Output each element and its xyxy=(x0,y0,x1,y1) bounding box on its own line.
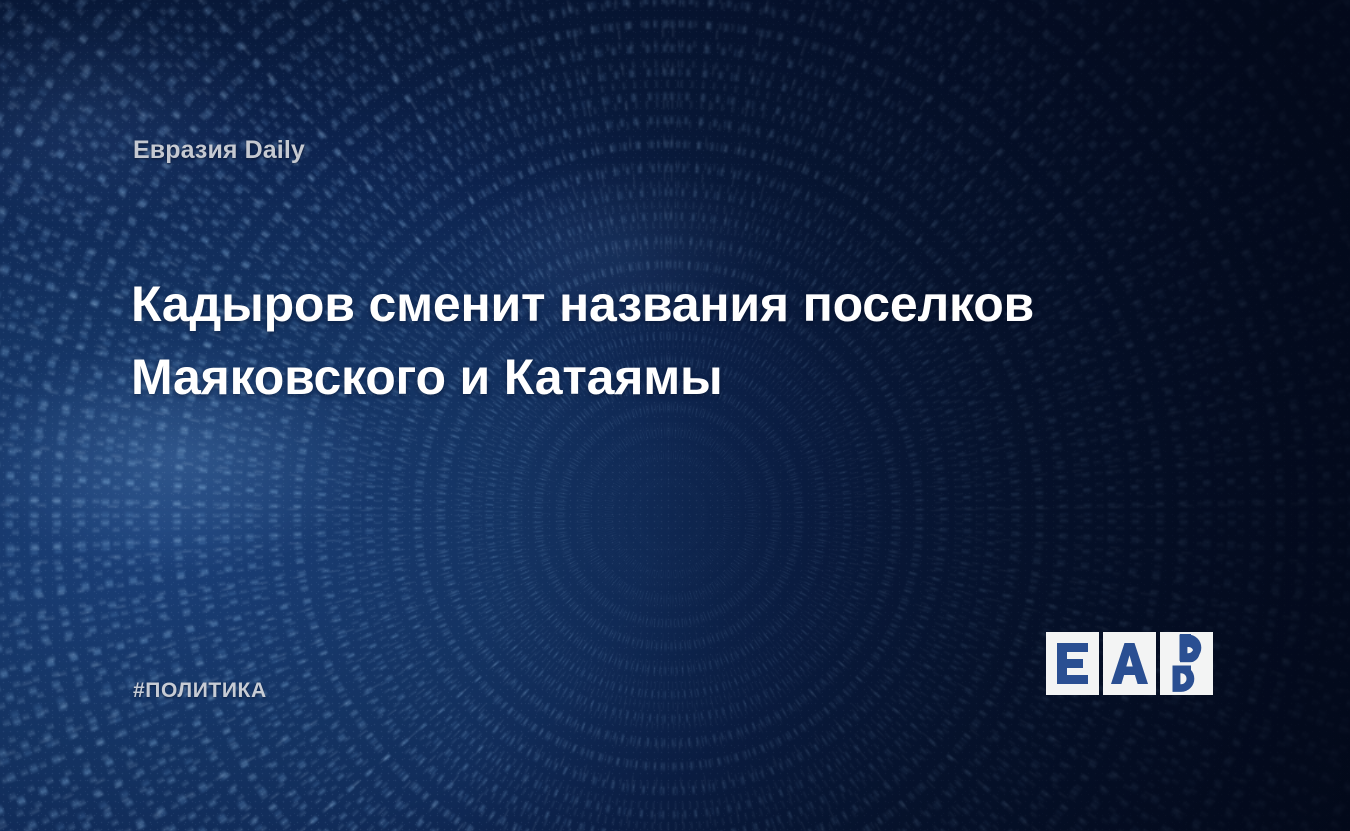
letter-d-split-tile xyxy=(1160,632,1213,695)
news-share-card: Евразия Daily Кадыров сменит названия по… xyxy=(0,0,1350,831)
letter-e-tile xyxy=(1046,632,1099,695)
letter-a-tile xyxy=(1103,632,1156,695)
eadaily-logo[interactable] xyxy=(1046,632,1213,695)
card-content: Евразия Daily Кадыров сменит названия по… xyxy=(0,0,1350,831)
category-tag-politics[interactable]: #ПОЛИТИКА xyxy=(133,679,267,703)
headline-title: Кадыров сменит названия поселков Маяковс… xyxy=(131,268,1141,414)
brand-name: Евразия Daily xyxy=(133,136,305,165)
